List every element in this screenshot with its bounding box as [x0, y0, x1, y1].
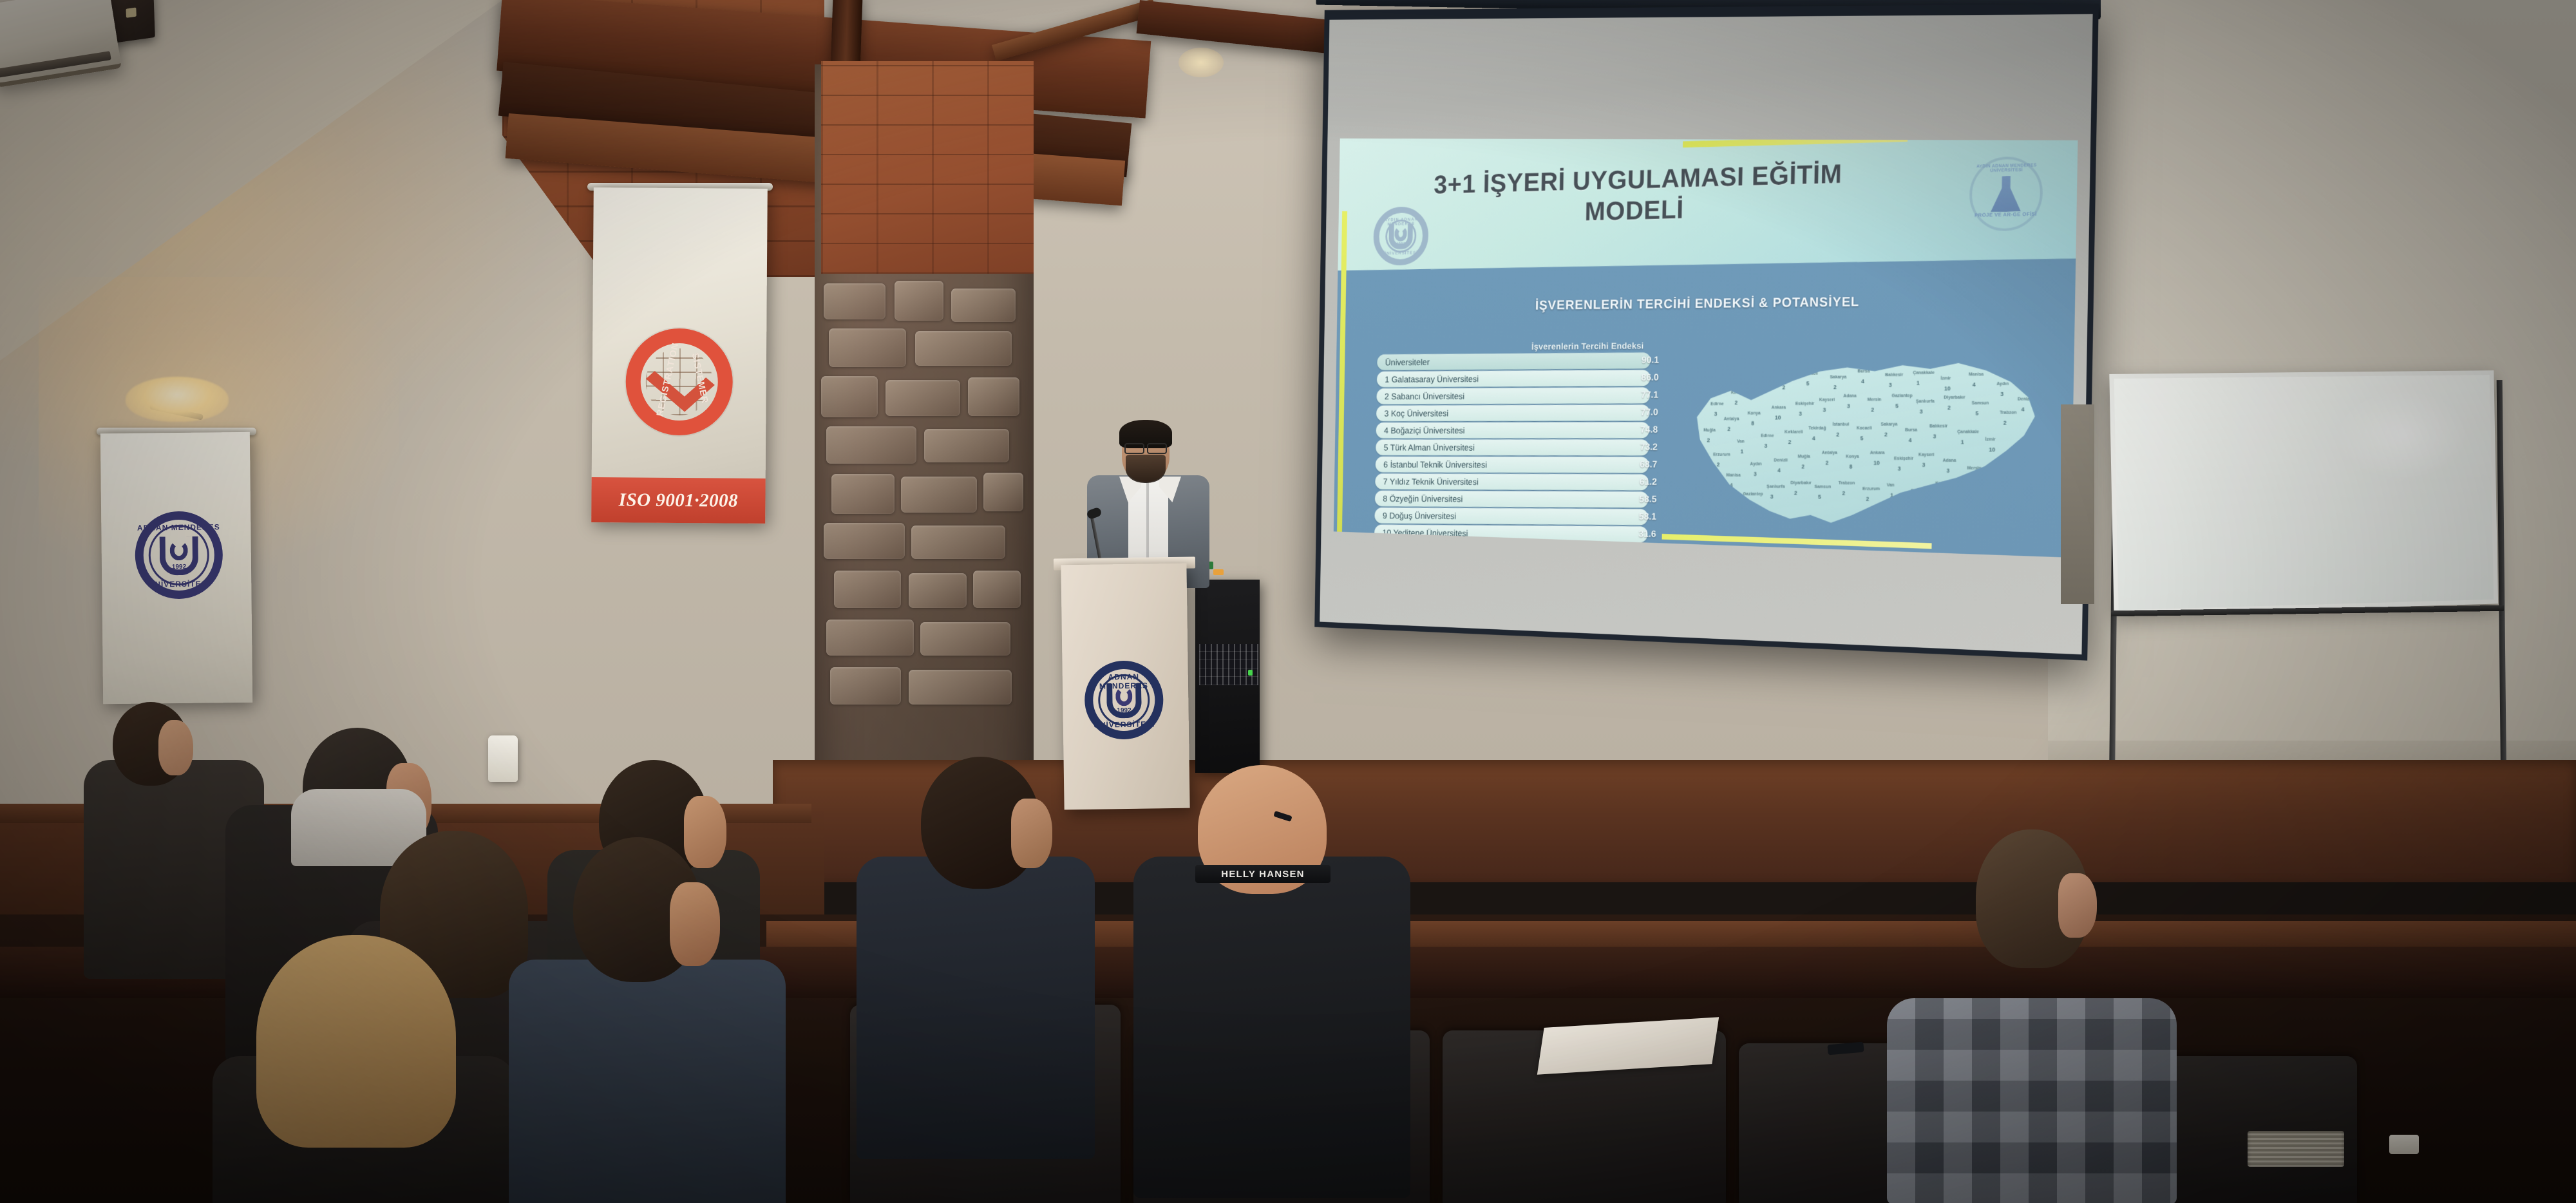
table-value-cell: 73.2: [1616, 439, 1658, 455]
map-province-label: Kocaeli: [1857, 426, 1872, 431]
helly-hansen-label: HELLY HANSEN: [1221, 869, 1304, 880]
map-province-label: Edirne: [1761, 434, 1774, 439]
map-province-count: 2: [1825, 459, 1828, 466]
table-row-highlighted: 121 Aydın Adnan Menderes Üniversitesi: [1374, 543, 1647, 558]
map-province-label: Adana: [1943, 459, 1956, 463]
map-province-label: Erzurum: [1713, 453, 1730, 457]
mobile-whiteboard[interactable]: [2109, 370, 2498, 615]
map-province-count: 3: [1915, 498, 1918, 504]
map-province-label: Aydın: [1750, 462, 1761, 467]
table-value-cell: 86.0: [1617, 369, 1659, 385]
map-province-label: Şanlıurfa: [1766, 485, 1785, 489]
table-value-cell-highlighted: [1614, 543, 1656, 558]
jacket-collar-brand: HELLY HANSEN: [1195, 865, 1331, 883]
map-province-label: Manisa: [1969, 372, 1984, 377]
table-row-name: 4 Boğaziçi Üniversitesi: [1384, 426, 1465, 435]
map-province-label: Kayseri: [1918, 453, 1935, 457]
wall-panel: [2061, 404, 2094, 604]
map-province-label: İstanbul: [1779, 375, 1795, 380]
index-table: İşverenlerin Tercihi Endeksi Üniversitel…: [1374, 341, 1651, 558]
podium-seal-bottom-text: ÜNİVERSİTESİ: [1085, 719, 1164, 730]
map-province-count: 2: [1842, 489, 1845, 496]
map-province-label: Manisa: [1726, 473, 1740, 478]
table-row-name: 3 Koç Üniversitesi: [1384, 408, 1448, 418]
seal-year: 1992: [135, 564, 223, 571]
map-province-label: Adana: [1843, 394, 1857, 399]
map-province-label: Denizli: [2018, 397, 2032, 402]
banner-iso-certification: REGISTRATION SISTEMER ISO 9001·2008: [591, 187, 768, 524]
podium-university-seal-icon: ADNAN MENDERES 1992 ÜNİVERSİTESİ: [1084, 660, 1164, 740]
map-province-label: Trabzon: [2000, 411, 2016, 415]
map-province-label: Trabzon: [1839, 481, 1855, 486]
map-province-count: 10: [1944, 385, 1951, 392]
map-province-count: 2: [1971, 475, 1974, 481]
podium: ADNAN MENDERES 1992 ÜNİVERSİTESİ: [1061, 564, 1189, 810]
map-province-label: Samsun: [1814, 485, 1831, 489]
research-office-inner-text: PROJE VE AR-GE OFİSİ: [1972, 211, 2040, 219]
map-province-label: Konya: [1748, 412, 1761, 416]
map-province-count: 2: [1794, 489, 1797, 496]
table-row: 10 Yeditepe Üniversitesi: [1374, 525, 1648, 543]
table-value-cell: 61.2: [1615, 473, 1657, 489]
table-row-name: 7 Yıldız Teknik Üniversitesi: [1383, 477, 1479, 487]
table-row-name: 8 Özyeğin Üniversitesi: [1383, 493, 1463, 504]
map-province-count: 5: [1818, 493, 1821, 500]
map-province-count: 2: [1782, 384, 1785, 390]
map-province-label: Gaziantep: [1743, 492, 1763, 497]
map-province-count: 2: [2003, 419, 2007, 426]
map-province-count: 3: [1770, 493, 1774, 500]
map-province-label: Edirne: [1911, 489, 1924, 493]
map-province-count: 3: [1946, 467, 1949, 473]
map-province-count: 3: [1898, 465, 1901, 471]
map-province-count: 2: [1788, 439, 1792, 445]
map-province-count: 3: [1823, 406, 1826, 413]
white-wall-box: [488, 735, 518, 782]
map-province-label: Çanakkale: [1957, 430, 1979, 434]
turkey-map-shape: Edirne3Kırklareli2Tekirdağ4İstanbul2Koca…: [1688, 347, 2036, 540]
map-province-count: 2: [1947, 404, 1951, 411]
audio-mixer[interactable]: [1199, 644, 1258, 685]
map-province-label: Sakarya: [1880, 422, 1897, 427]
table-row: 8 Özyeğin Üniversitesi: [1375, 491, 1649, 508]
research-office-outer-text: AYDIN ADNAN MENDERES ÜNİVERSİTESİ: [1973, 163, 2041, 173]
map-province-count: 5: [1747, 500, 1750, 507]
table-value-cell: 58.1: [1615, 508, 1656, 524]
map-province-count: 2: [1717, 461, 1720, 468]
map-province-label: İzmir: [1985, 437, 1995, 442]
map-province-count: 4: [1861, 378, 1864, 384]
map-province-count: 2: [1939, 490, 1942, 497]
map-province-label: Eskişehir: [1795, 402, 1815, 406]
map-province-count: 10: [1989, 446, 1995, 453]
map-province-label: Mersin: [1967, 466, 1981, 471]
wall-socket: [2389, 1135, 2419, 1154]
table-row-name: Üniversiteler: [1385, 357, 1430, 368]
flask-icon: [1991, 176, 2022, 213]
map-province-label: Şanlıurfa: [1916, 399, 1935, 404]
map-province-count: 4: [2022, 406, 2025, 412]
map-province-count: 4: [1812, 435, 1815, 441]
map-province-label: İstanbul: [1833, 422, 1850, 427]
table-row-name: 121 Aydın Adnan Menderes Üniversitesi: [1382, 547, 1568, 558]
table-row: 7 Yıldız Teknik Üniversitesi: [1375, 473, 1649, 490]
floor-vent-grille: [2248, 1131, 2344, 1167]
map-province-count: 10: [1775, 414, 1781, 421]
table-row-name: 6 İstanbul Teknik Üniversitesi: [1383, 460, 1487, 469]
map-province-count: 3: [1922, 461, 1926, 468]
map-province-count: 4: [1758, 388, 1761, 394]
map-province-label: Balıkesir: [1929, 424, 1947, 429]
map-province-count: 5: [1806, 380, 1810, 386]
seal-bottom-text: ÜNİVERSİTESİ: [135, 579, 223, 589]
map-province-label: Sakarya: [1830, 375, 1846, 379]
map-province-label: Ankara: [1870, 451, 1885, 455]
map-province-label: Muğla: [1798, 455, 1810, 459]
iso-globe-icon: REGISTRATION SISTEMER: [625, 328, 733, 435]
table-row: 1 Galatasaray Üniversitesi: [1377, 370, 1651, 387]
map-province-label: Tekirdağ: [1755, 379, 1772, 384]
table-body: Üniversiteler1 Galatasaray Üniversitesi2…: [1374, 352, 1651, 558]
table-value-cell: 31.6: [1615, 526, 1656, 542]
rafter-light: [1179, 48, 1224, 77]
table-row-name: 2 Sabancı Üniversitesi: [1385, 391, 1464, 401]
presentation-slide: AYDIN ADNAN MENDERES 1992 ÜNİVERSİTESİ A…: [1334, 138, 2078, 558]
av-orange-led-icon: [1213, 569, 1224, 575]
map-province-label: Kayseri: [1819, 398, 1835, 403]
table-value-cell: 77.1: [1616, 386, 1658, 403]
map-province-count: 3: [1765, 442, 1768, 449]
brick-wall-column-top: [821, 61, 1034, 274]
map-province-label: Edirne: [1710, 402, 1723, 406]
iso-footer-band: ISO 9001·2008: [591, 477, 765, 524]
map-province-label: İzmir: [1940, 377, 1951, 381]
adnan-menderes-seal-icon: ADNAN MENDERES 1992 ÜNİVERSİTESİ: [135, 511, 223, 599]
map-province-count: 1: [1917, 379, 1920, 386]
map-province-count: 5: [1975, 410, 1978, 416]
map-province-label: Denizli: [1774, 459, 1787, 463]
table-row: 2 Sabancı Üniversitesi: [1376, 387, 1650, 404]
map-province-count: 1: [1961, 439, 1964, 445]
table-row-name: 5 Türk Alman Üniversitesi: [1384, 442, 1475, 452]
map-province-count: 10: [1873, 459, 1880, 466]
slide-title: 3+1 İŞYERİ UYGULAMASI EĞİTİM MODELİ: [1412, 158, 1864, 231]
map-province-label: Konya: [1846, 455, 1859, 459]
map-province-label: Eskişehir: [1894, 457, 1913, 461]
map-province-count: 8: [1751, 420, 1754, 426]
map-province-count: 1: [1890, 492, 1893, 498]
map-province-label: Antalya: [1724, 417, 1739, 422]
map-province-label: Bursa: [1857, 369, 1870, 374]
map-province-count: 2: [1833, 384, 1837, 390]
map-province-count: 2: [1801, 463, 1804, 469]
map-province-count: 2: [1871, 406, 1874, 413]
seal-top-text: ADNAN MENDERES: [135, 522, 222, 532]
map-province-count: 4: [1777, 467, 1781, 473]
table-value-cell: 74.8: [1616, 421, 1658, 437]
table-row-name: 9 Doğuş Üniversitesi: [1383, 511, 1456, 521]
map-province-count: 3: [2000, 390, 2003, 397]
map-province-label: Çanakkale: [1913, 371, 1935, 375]
map-province-label: Kırklareli: [1731, 391, 1749, 395]
speaker-beard: [1126, 455, 1166, 483]
map-province-count: 2: [1707, 437, 1710, 443]
table-value-cell: 90.1: [1617, 352, 1659, 368]
map-province-count: 3: [1933, 433, 1937, 439]
podium-seal-year: 1992: [1084, 706, 1163, 715]
map-province-count: 3: [1920, 408, 1923, 415]
map-province-label: Balıkesir: [1885, 373, 1903, 377]
map-province-count: 1: [1741, 448, 1744, 455]
map-province-label: Samsun: [1972, 401, 1989, 406]
map-province-label: Aydın: [1996, 382, 2009, 386]
table-row: Üniversiteler: [1377, 352, 1651, 370]
map-province-count: 2: [1884, 431, 1888, 437]
map-province-count: 3: [1754, 471, 1757, 477]
turkey-map-area: Edirne3Kırklareli2Tekirdağ4İstanbul2Koca…: [1681, 328, 2043, 558]
table-row-name: 10 Yeditepe Üniversitesi: [1382, 527, 1468, 538]
map-province-label: Bursa: [1905, 428, 1917, 433]
map-province-count: 2: [1836, 431, 1839, 437]
eyeglasses-icon: [1124, 443, 1167, 451]
table-row: 4 Boğaziçi Üniversitesi: [1376, 422, 1649, 438]
map-province-label: Kırklareli: [1785, 430, 1803, 435]
iso-standard-label: ISO 9001·2008: [619, 489, 739, 511]
map-province-count: 3: [1799, 410, 1802, 417]
map-province-count: 5: [1895, 403, 1899, 409]
map-province-label: Tekirdağ: [1808, 426, 1826, 431]
map-province-label: Diyarbakır: [1790, 481, 1812, 486]
screen-canvas: AYDIN ADNAN MENDERES 1992 ÜNİVERSİTESİ A…: [1314, 4, 2099, 661]
av-green-led-icon: [1248, 670, 1253, 676]
map-province-count: 2: [1727, 426, 1730, 432]
table-value-cell: 77.0: [1616, 404, 1658, 420]
map-province-count: 3: [1847, 403, 1850, 409]
map-province-count: 5: [1860, 435, 1863, 441]
map-province-label: Gaziantep: [1891, 393, 1912, 398]
banner-adnan-menderes-university: ADNAN MENDERES 1992 ÜNİVERSİTESİ: [100, 432, 252, 704]
map-province-count: 4: [1909, 437, 1912, 443]
map-province-label: Ankara: [1772, 406, 1786, 410]
table-row-name: 1 Galatasaray Üniversitesi: [1385, 374, 1479, 384]
map-province-count: 3: [1889, 381, 1892, 388]
map-province-label: Antalya: [1822, 451, 1837, 455]
table-value-cell: 68.7: [1616, 456, 1658, 472]
map-province-label: Erzurum: [1862, 487, 1880, 491]
conference-hall-scene: ADNAN MENDERES 1992 ÜNİVERSİTESİ REGISTR…: [0, 0, 2576, 1203]
map-province-label: Van: [1737, 439, 1745, 444]
map-province-count: 2: [1734, 399, 1738, 406]
table-value-column: 90.186.077.177.074.873.268.761.258.558.1…: [1614, 352, 1659, 558]
map-province-count: 3: [1714, 410, 1718, 417]
map-province-label: Mersin: [1868, 398, 1882, 403]
table-value-cell: 58.5: [1615, 491, 1657, 507]
map-province-label: Van: [1887, 483, 1895, 488]
map-province-count: 4: [1973, 381, 1976, 388]
map-province-label: Muğla: [1703, 428, 1716, 433]
map-province-count: 2: [1866, 495, 1870, 502]
map-province-label: Diyarbakır: [1944, 395, 1965, 400]
table-row: 5 Türk Alman Üniversitesi: [1376, 439, 1649, 455]
map-province-label: Kırklareli: [1935, 482, 1954, 486]
slide-subtitle: İŞVERENLERİN TERCİHİ ENDEKSİ & POTANSİYE…: [1337, 292, 2075, 315]
map-province-count: 4: [1730, 482, 1733, 488]
table-row: 3 Koç Üniversitesi: [1376, 404, 1650, 421]
table-row: 9 Doğuş Üniversitesi: [1374, 507, 1648, 525]
projection-screen: AYDIN ADNAN MENDERES 1992 ÜNİVERSİTESİ A…: [1314, 4, 2099, 661]
table-column-header: İşverenlerin Tercihi Endeksi: [1378, 341, 1651, 353]
table-row: 6 İstanbul Teknik Üniversitesi: [1376, 457, 1649, 473]
wall-lamp: [126, 377, 229, 422]
map-province-label: Kocaeli: [1803, 372, 1818, 376]
map-province-count: 8: [1850, 463, 1853, 469]
